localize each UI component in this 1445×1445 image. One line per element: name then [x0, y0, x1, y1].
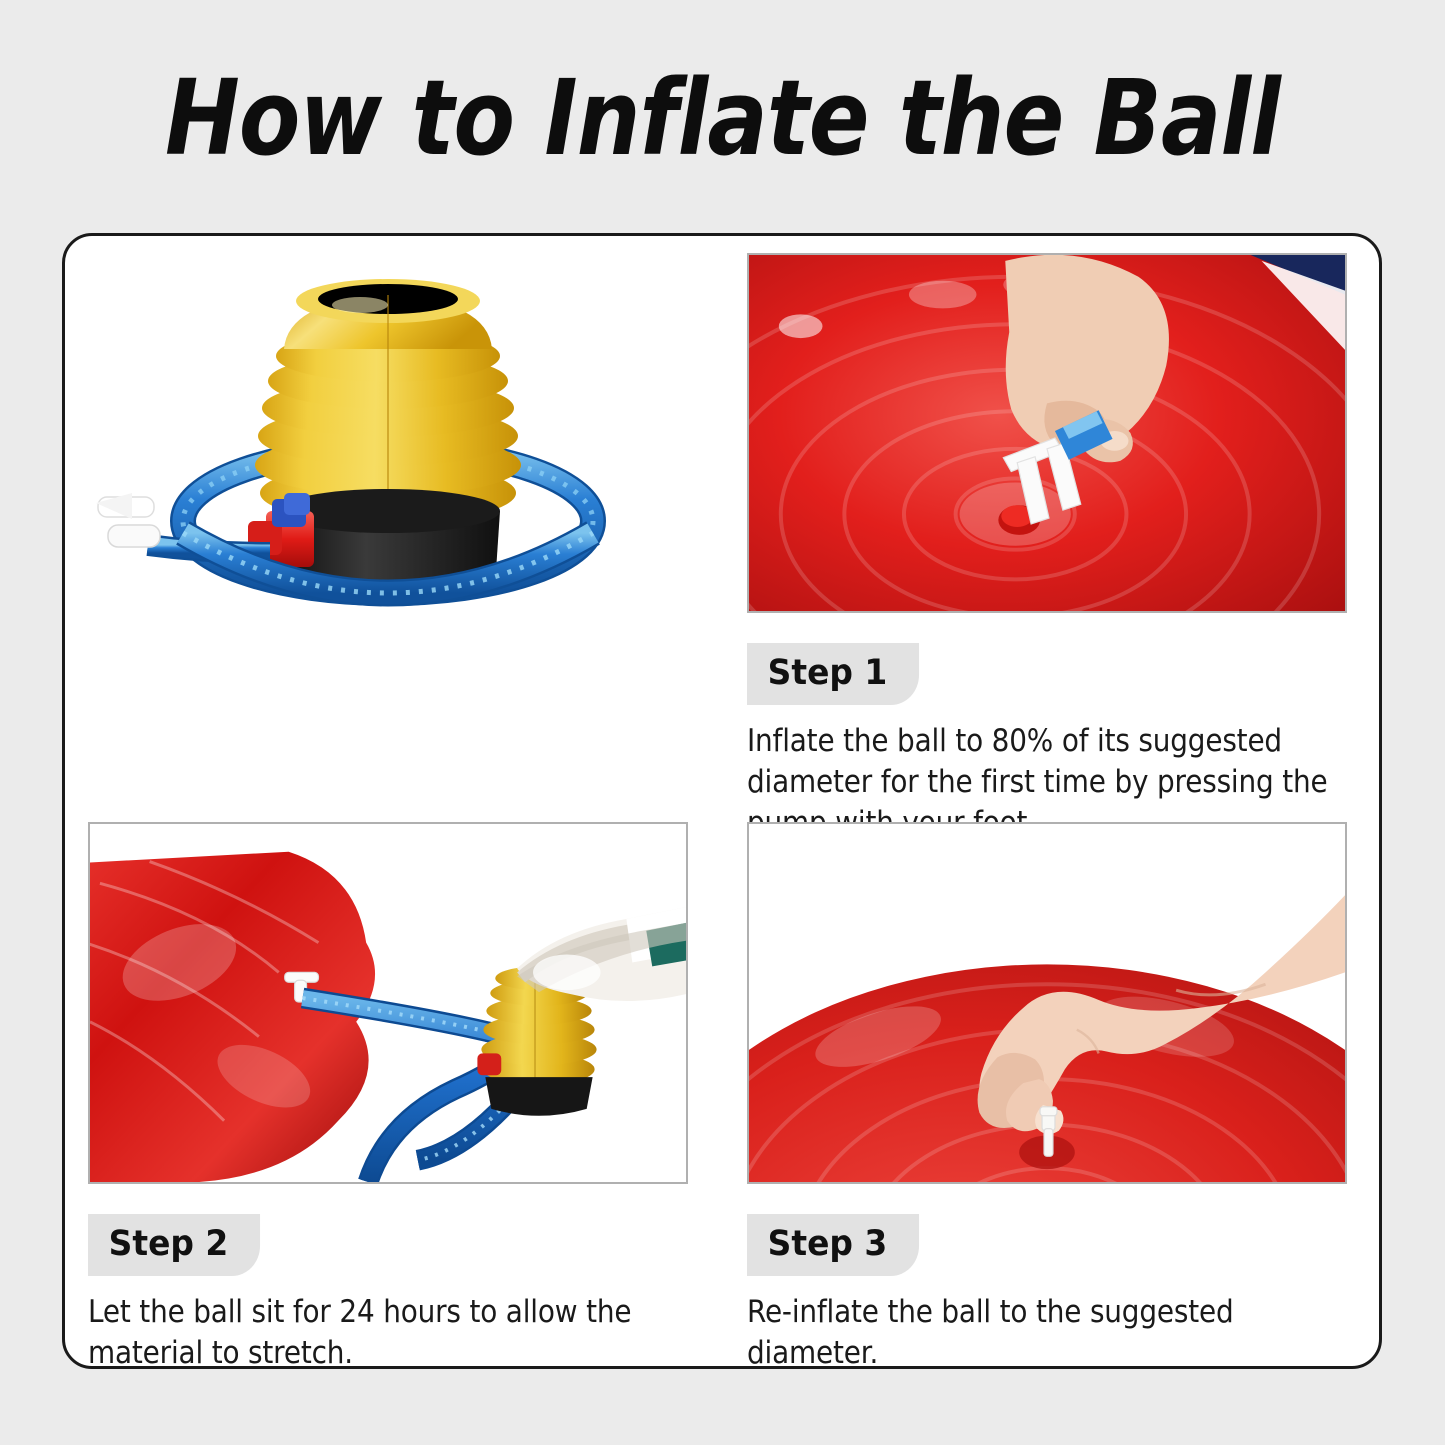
step-3-tag: Step 3 — [747, 1214, 919, 1276]
step-2-tag: Step 2 — [88, 1214, 260, 1276]
step-1-cell: Step 1 Inflate the ball to 80% of its su… — [747, 253, 1347, 813]
step-1-photo — [747, 253, 1347, 613]
page-title: How to Inflate the Ball — [101, 62, 1344, 174]
step-2-photo — [88, 822, 688, 1184]
step-2-tag-wrap: Step 2 — [88, 1214, 688, 1276]
step-2-text: Let the ball sit for 24 hours to allow t… — [88, 1292, 691, 1374]
step-1-tag: Step 1 — [747, 643, 919, 705]
step-3-text: Re-inflate the ball to the suggested dia… — [747, 1292, 1350, 1374]
foot-pump-product-photo — [88, 253, 688, 653]
infographic-page: How to Inflate the Ball — [0, 0, 1445, 1445]
step-2-cell: Step 2 Let the ball sit for 24 hours to … — [88, 822, 688, 1362]
step-1-tag-wrap: Step 1 — [747, 643, 1347, 705]
hero-cell — [88, 253, 688, 813]
step-3-photo — [747, 822, 1347, 1184]
step-3-cell: Step 3 Re-inflate the ball to the sugges… — [747, 822, 1347, 1362]
step-3-tag-wrap: Step 3 — [747, 1214, 1347, 1276]
